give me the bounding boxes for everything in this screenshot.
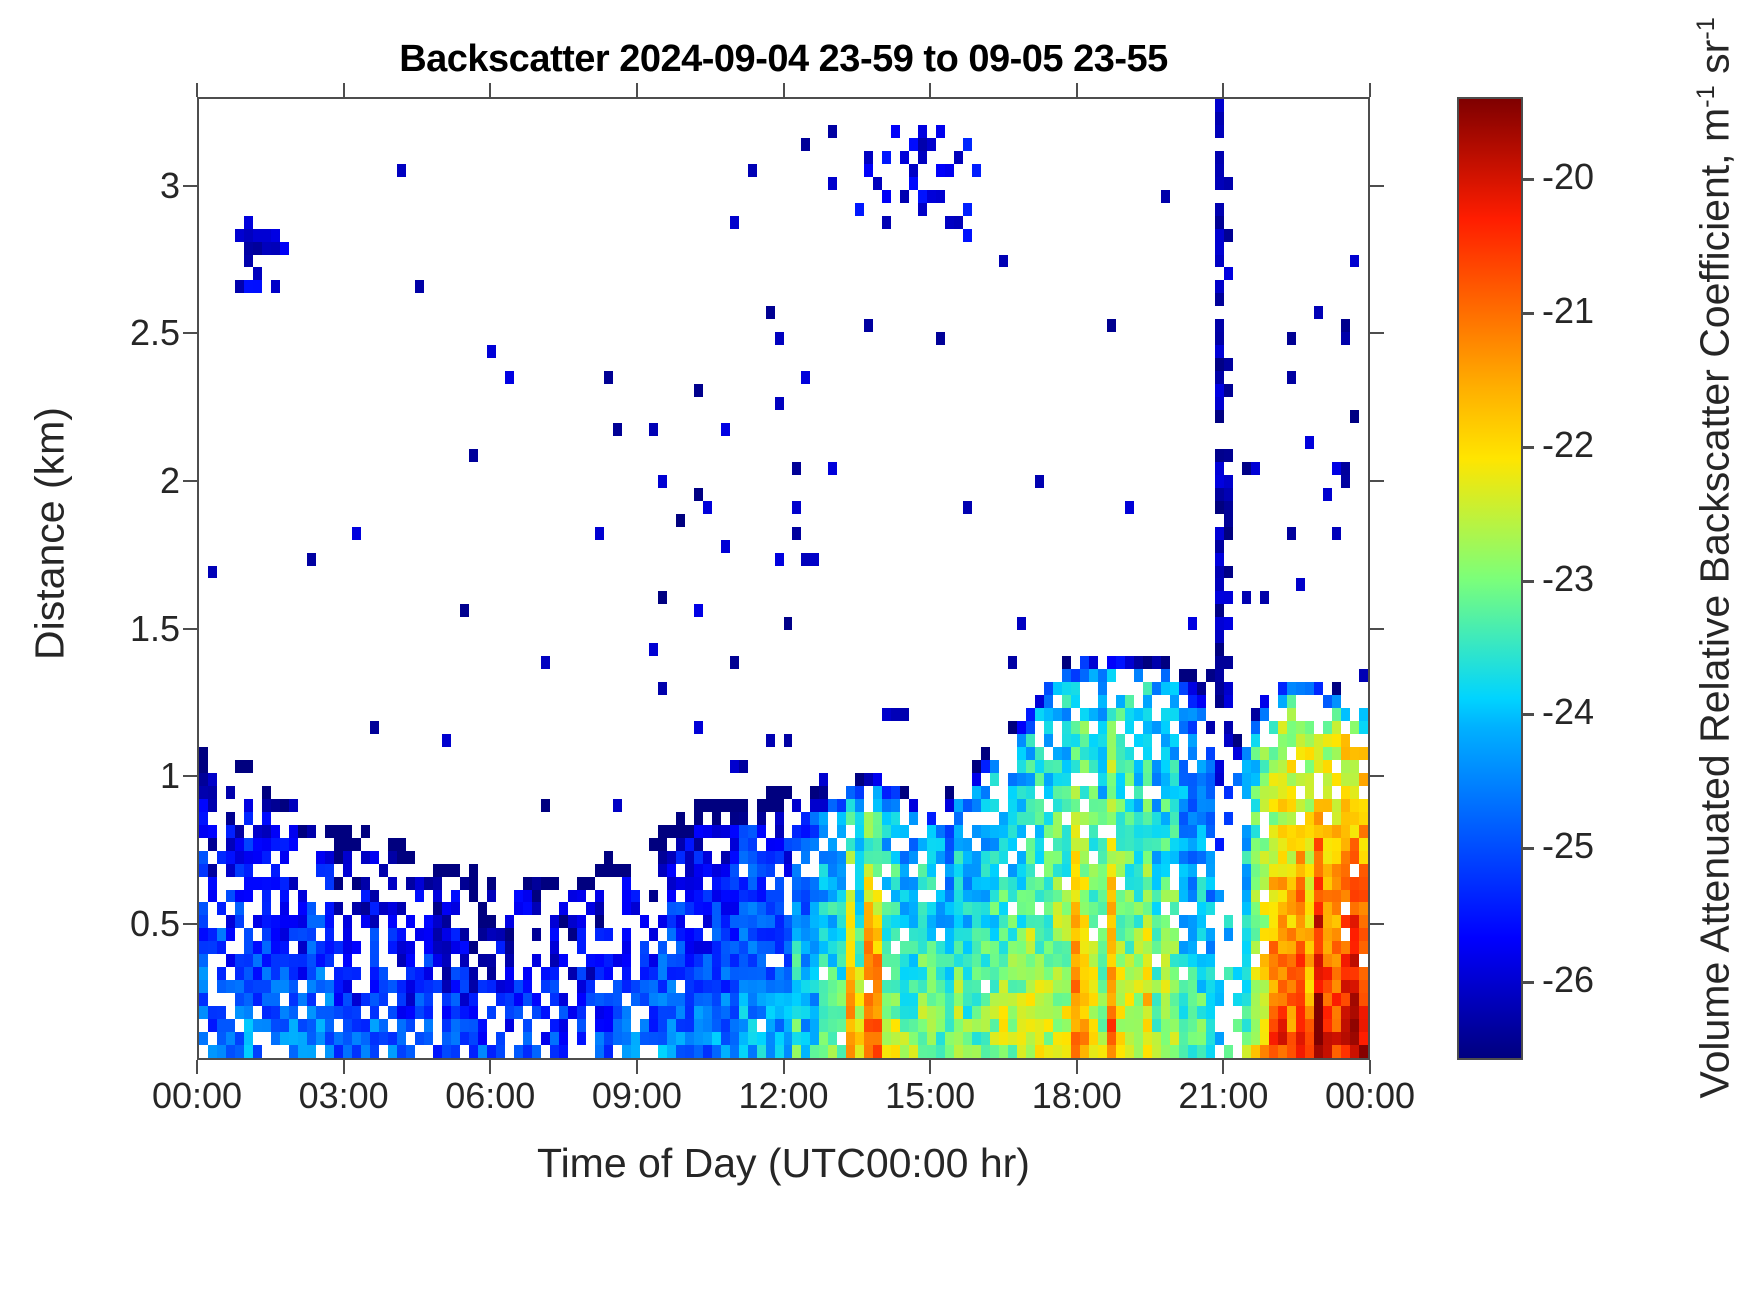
y-tick-label: 2	[160, 460, 180, 502]
x-tick-label: 00:00	[1325, 1075, 1415, 1117]
x-tick	[196, 1060, 198, 1074]
x-tick	[783, 83, 785, 97]
page-title: Backscatter 2024-09-04 23-59 to 09-05 23…	[197, 38, 1370, 81]
colorbar-tick-label: -25	[1542, 825, 1594, 867]
colorbar-tick	[1521, 580, 1534, 583]
x-tick	[343, 83, 345, 97]
colorbar-tick-label: -20	[1542, 156, 1594, 198]
colorbar-label: Volume Attenuated Relative Backscatter C…	[1692, 39, 1739, 1099]
x-tick	[1369, 1060, 1371, 1074]
y-tick-label: 2.5	[130, 312, 180, 354]
y-tick-label: 1.5	[130, 608, 180, 650]
x-tick	[489, 83, 491, 97]
colorbar-gradient	[1459, 99, 1521, 1058]
y-tick	[183, 332, 197, 334]
y-tick	[1370, 628, 1384, 630]
x-tick-label: 12:00	[738, 1075, 828, 1117]
x-tick	[1222, 83, 1224, 97]
x-tick-label: 03:00	[299, 1075, 389, 1117]
x-tick	[1369, 83, 1371, 97]
colorbar-tick	[1521, 312, 1534, 315]
backscatter-heatmap	[199, 99, 1368, 1058]
colorbar-tick-label: -22	[1542, 424, 1594, 466]
y-tick-label: 3	[160, 165, 180, 207]
colorbar-label-sup1: -1	[1692, 85, 1720, 108]
x-tick	[1076, 83, 1078, 97]
colorbar	[1457, 97, 1523, 1060]
x-tick	[1076, 1060, 1078, 1074]
x-tick-label: 18:00	[1032, 1075, 1122, 1117]
x-tick	[783, 1060, 785, 1074]
x-tick	[636, 83, 638, 97]
colorbar-label-main: Volume Attenuated Relative Backscatter C…	[1692, 108, 1738, 1099]
x-tick	[489, 1060, 491, 1074]
y-tick	[1370, 185, 1384, 187]
y-tick	[183, 923, 197, 925]
y-tick	[1370, 775, 1384, 777]
backscatter-figure: Backscatter 2024-09-04 23-59 to 09-05 23…	[0, 0, 1750, 1313]
y-tick-label: 1	[160, 755, 180, 797]
y-tick	[183, 185, 197, 187]
colorbar-tick	[1521, 713, 1534, 716]
colorbar-tick	[1521, 847, 1534, 850]
x-tick-label: 15:00	[885, 1075, 975, 1117]
y-tick	[183, 628, 197, 630]
y-tick	[1370, 923, 1384, 925]
y-tick-label: 0.5	[130, 903, 180, 945]
x-tick	[343, 1060, 345, 1074]
colorbar-tick	[1521, 178, 1534, 181]
x-tick-label: 00:00	[152, 1075, 242, 1117]
y-tick	[183, 480, 197, 482]
colorbar-tick-label: -24	[1542, 691, 1594, 733]
x-tick-label: 09:00	[592, 1075, 682, 1117]
y-axis-label: Distance (km)	[27, 54, 74, 1014]
x-tick	[636, 1060, 638, 1074]
x-axis-label: Time of Day (UTC00:00 hr)	[197, 1140, 1370, 1187]
colorbar-tick	[1521, 446, 1534, 449]
x-tick	[196, 83, 198, 97]
plot-axes	[197, 97, 1370, 1060]
x-tick	[1222, 1060, 1224, 1074]
colorbar-tick	[1521, 981, 1534, 984]
colorbar-tick-label: -23	[1542, 558, 1594, 600]
x-tick-label: 21:00	[1178, 1075, 1268, 1117]
colorbar-tick-label: -26	[1542, 959, 1594, 1001]
y-tick	[1370, 480, 1384, 482]
colorbar-label-sup2: -1	[1692, 17, 1720, 40]
x-tick-label: 06:00	[445, 1075, 535, 1117]
colorbar-tick-label: -21	[1542, 290, 1594, 332]
colorbar-label-mid: sr	[1692, 40, 1738, 86]
y-tick	[1370, 332, 1384, 334]
x-tick	[929, 1060, 931, 1074]
x-tick	[929, 83, 931, 97]
y-tick	[183, 775, 197, 777]
